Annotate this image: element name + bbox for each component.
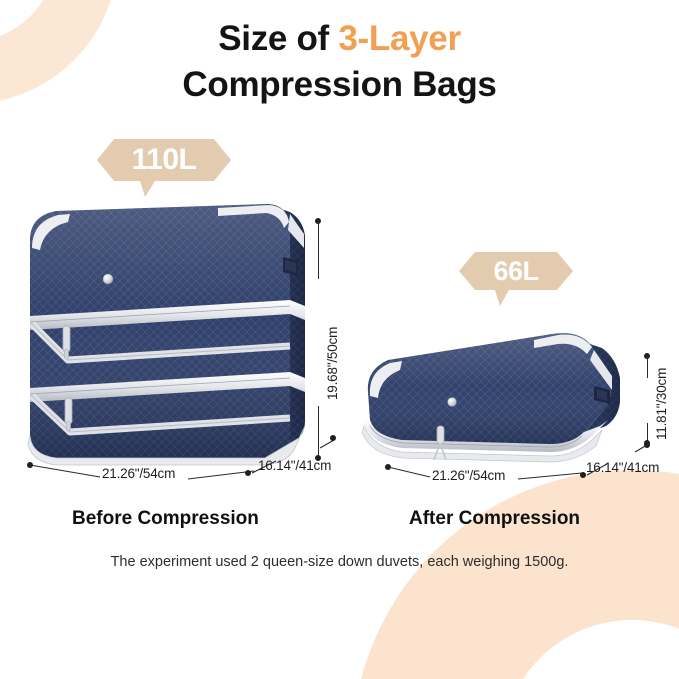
title-prefix: Size of (218, 19, 338, 58)
footnote-text: The experiment used 2 queen-size down du… (0, 554, 679, 570)
caption-after-compression: After Compression (409, 508, 580, 530)
dim-dot (644, 440, 650, 446)
caption-before-compression: Before Compression (72, 508, 259, 530)
dimension-before-height-label: 19.68"/50cm (325, 327, 340, 400)
decorative-arc-bottom-right (352, 470, 679, 679)
dimension-after-height-label: 11.81"/30cm (654, 368, 669, 440)
infographic-canvas: Size of 3-Layer Compression Bags 110L 66… (0, 0, 679, 679)
volume-badge-after-label: 66L (493, 256, 538, 287)
product-image-before-compression (22, 200, 312, 468)
dimension-before-width-label: 21.26"/54cm (102, 466, 175, 481)
dimension-after-depth-label: 16.14"/41cm (586, 460, 659, 475)
dimension-before-depth-label: 16.14"/41cm (258, 458, 331, 473)
dim-dot (330, 435, 336, 441)
dimension-after-width-label: 21.26"/54cm (432, 468, 505, 483)
title-line-1: Size of 3-Layer (0, 16, 679, 62)
page-title: Size of 3-Layer Compression Bags (0, 16, 679, 108)
bag-before-graphic (22, 200, 312, 468)
dim-line (647, 356, 648, 378)
volume-badge-before-label: 110L (132, 143, 197, 177)
dim-line (318, 221, 319, 279)
title-accent: 3-Layer (338, 19, 460, 58)
title-line-2: Compression Bags (0, 62, 679, 108)
